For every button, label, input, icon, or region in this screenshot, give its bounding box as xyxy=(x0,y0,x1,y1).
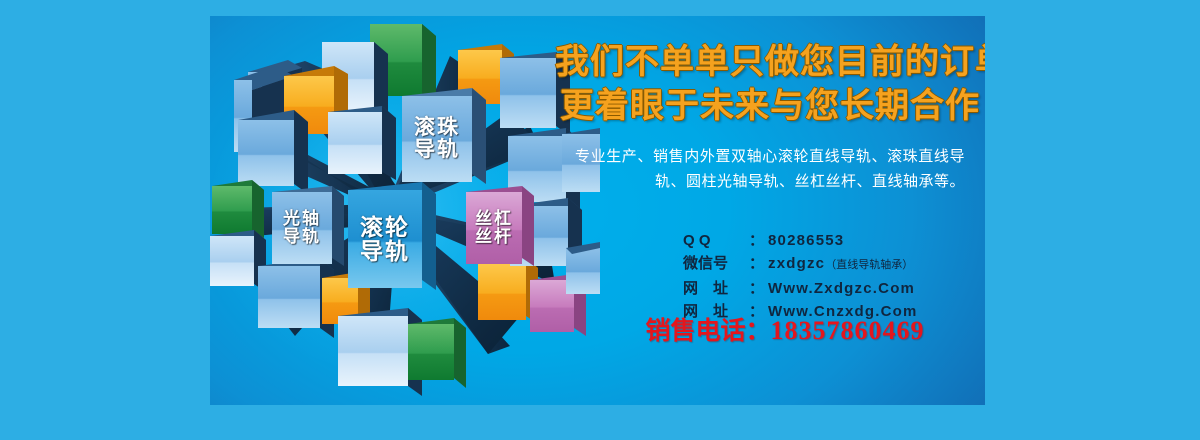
headline: 我们不单单只做您目前的订单 更着眼于未来与您长期合作 xyxy=(555,40,985,128)
promo-banner: 滚珠 导轨 光轴 导轨 滚轮 导轨 丝杠 丝杆 我们不单单只做您目前的订单 更着… xyxy=(210,16,985,405)
headline-line-2: 更着眼于未来与您长期合作 xyxy=(555,84,985,128)
contact-label-qq: Q Q xyxy=(683,230,749,251)
exploding-cube-cluster-artwork: 滚珠 导轨 光轴 导轨 滚轮 导轨 丝杠 丝杆 xyxy=(210,16,600,405)
cube-label-line2: 导轨 xyxy=(414,139,460,161)
contact-value-wechat[interactable]: zxdgzc xyxy=(768,253,825,274)
contact-value-website-1[interactable]: Www.Zxdgzc.Com xyxy=(768,278,915,299)
description-text: 专业生产、销售内外置双轴心滚轮直线导轨、滚珠直线导轨、圆柱光轴导轨、丝杠丝杆、直… xyxy=(575,144,965,194)
contact-colon: ： xyxy=(749,230,768,251)
sales-phone: 销售电话：18357860469 xyxy=(585,316,985,346)
contact-note-wechat: （直线导轨轴承） xyxy=(825,255,913,276)
contact-value-qq[interactable]: 80286553 xyxy=(768,230,844,251)
contact-label-wechat: 微信号 xyxy=(683,253,749,274)
contact-row-website-1: 网 址 ： Www.Zxdgzc.Com xyxy=(683,278,983,299)
contact-colon: ： xyxy=(749,253,768,274)
contact-label-website: 网 址 xyxy=(683,278,749,299)
cube-label-ball-guide-rail: 滚珠 导轨 xyxy=(402,96,472,182)
headline-line-1: 我们不单单只做您目前的订单 xyxy=(555,40,985,84)
contact-block: Q Q ： 80286553 微信号 ： zxdgzc （直线导轨轴承） 网 址… xyxy=(683,230,983,324)
contact-colon: ： xyxy=(749,278,768,299)
sales-phone-label: 销售电话： xyxy=(645,317,770,345)
cube-label-line1: 光轴 xyxy=(283,210,321,228)
contact-row-qq: Q Q ： 80286553 xyxy=(683,230,983,251)
cube-label-line1: 滚珠 xyxy=(414,117,460,139)
cube-label-roller-guide-rail: 滚轮 导轨 xyxy=(348,190,422,288)
cube-label-line1: 滚轮 xyxy=(360,215,410,239)
cube-label-line2: 导轨 xyxy=(360,239,410,263)
cube-label-line1: 丝杠 xyxy=(475,210,513,228)
banner-content: 我们不单单只做您目前的订单 更着眼于未来与您长期合作 专业生产、销售内外置双轴心… xyxy=(555,16,985,405)
banner-page: 滚珠 导轨 光轴 导轨 滚轮 导轨 丝杠 丝杆 我们不单单只做您目前的订单 更着… xyxy=(0,0,1200,440)
sales-phone-number[interactable]: 18357860469 xyxy=(771,316,925,345)
cube-label-line2: 导轨 xyxy=(283,228,321,246)
cube-label-line2: 丝杆 xyxy=(475,228,513,246)
contact-row-wechat: 微信号 ： zxdgzc （直线导轨轴承） xyxy=(683,253,983,276)
cube-label-lead-screw: 丝杠 丝杆 xyxy=(466,192,522,264)
cube-label-optical-axis-guide: 光轴 导轨 xyxy=(272,192,332,264)
